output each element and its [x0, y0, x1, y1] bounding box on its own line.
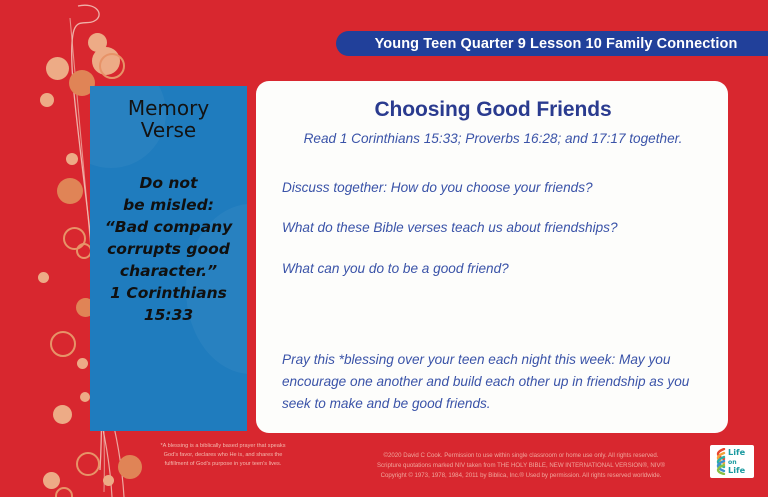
decor-dot: [46, 57, 69, 80]
verse-line: 1 Corinthians: [110, 284, 227, 302]
footnote-line: God’s favor, declares who He is, and sha…: [118, 451, 328, 460]
decor-ring: [99, 53, 125, 79]
decor-dot: [43, 472, 60, 489]
discussion-question: Discuss together: How do you choose your…: [282, 179, 704, 197]
copyright-line: ©2020 David C Cook. Permission to use wi…: [338, 451, 704, 461]
verse-line: 15:33: [144, 306, 193, 324]
footnote-line: fulfillment of God’s purpose in your tee…: [118, 460, 328, 469]
decor-ring: [76, 452, 100, 476]
memory-verse-heading-line1: Memory: [128, 96, 209, 120]
decor-dot: [66, 153, 78, 165]
verse-line: character.”: [120, 262, 217, 280]
footnote-line: *A blessing is a biblically based prayer…: [118, 442, 328, 451]
verse-line: corrupts good: [107, 240, 230, 258]
verse-line: be misled:: [123, 196, 214, 214]
header-banner-title: Young Teen Quarter 9 Lesson 10 Family Co…: [367, 36, 738, 52]
decor-dot: [80, 392, 90, 402]
decor-dot: [57, 178, 83, 204]
copyright-line: Copyright © 1973, 1978, 1984, 2011 by Bi…: [338, 471, 704, 481]
decor-dot: [92, 47, 120, 75]
logo-line-1: Life: [728, 447, 745, 457]
memory-verse-heading: Memory Verse: [90, 86, 247, 142]
read-instruction: Read 1 Corinthians 15:33; Proverbs 16:28…: [282, 130, 704, 148]
prayer-blessing-text: Pray this *blessing over your teen each …: [282, 349, 704, 415]
decor-dot: [40, 93, 54, 107]
discussion-question: What can you do to be a good friend?: [282, 260, 704, 278]
header-banner: Young Teen Quarter 9 Lesson 10 Family Co…: [336, 31, 768, 56]
decor-dot: [53, 405, 72, 424]
family-connection-page: Young Teen Quarter 9 Lesson 10 Family Co…: [0, 0, 768, 497]
copyright-line: Scripture quotations marked NIV taken fr…: [338, 461, 704, 471]
memory-verse-panel: Memory Verse Do not be misled: “Bad comp…: [90, 86, 247, 431]
verse-line: Do not: [139, 174, 197, 192]
memory-verse-text: Do not be misled: “Bad company corrupts …: [90, 142, 247, 326]
life-on-life-logo: Life on Life: [710, 445, 754, 478]
lesson-content-card: Choosing Good Friends Read 1 Corinthians…: [256, 81, 728, 433]
logo-line-3: Life: [728, 465, 745, 475]
memory-verse-heading-line2: Verse: [141, 118, 196, 142]
decor-dot: [77, 358, 88, 369]
decor-dot: [103, 475, 114, 486]
decor-dot: [38, 272, 49, 283]
discussion-question: What do these Bible verses teach us abou…: [282, 219, 704, 237]
blessing-footnote: *A blessing is a biblically based prayer…: [118, 442, 328, 469]
verse-line: “Bad company: [105, 218, 232, 236]
logo-wordmark: Life on Life: [728, 448, 745, 474]
copyright-notice: ©2020 David C Cook. Permission to use wi…: [338, 451, 704, 481]
ribbon-icon: [713, 448, 726, 475]
decor-ring: [55, 487, 73, 497]
page-title: Choosing Good Friends: [282, 97, 704, 122]
decor-ring: [63, 227, 86, 250]
decor-dot: [88, 33, 107, 52]
decor-ring: [50, 331, 76, 357]
